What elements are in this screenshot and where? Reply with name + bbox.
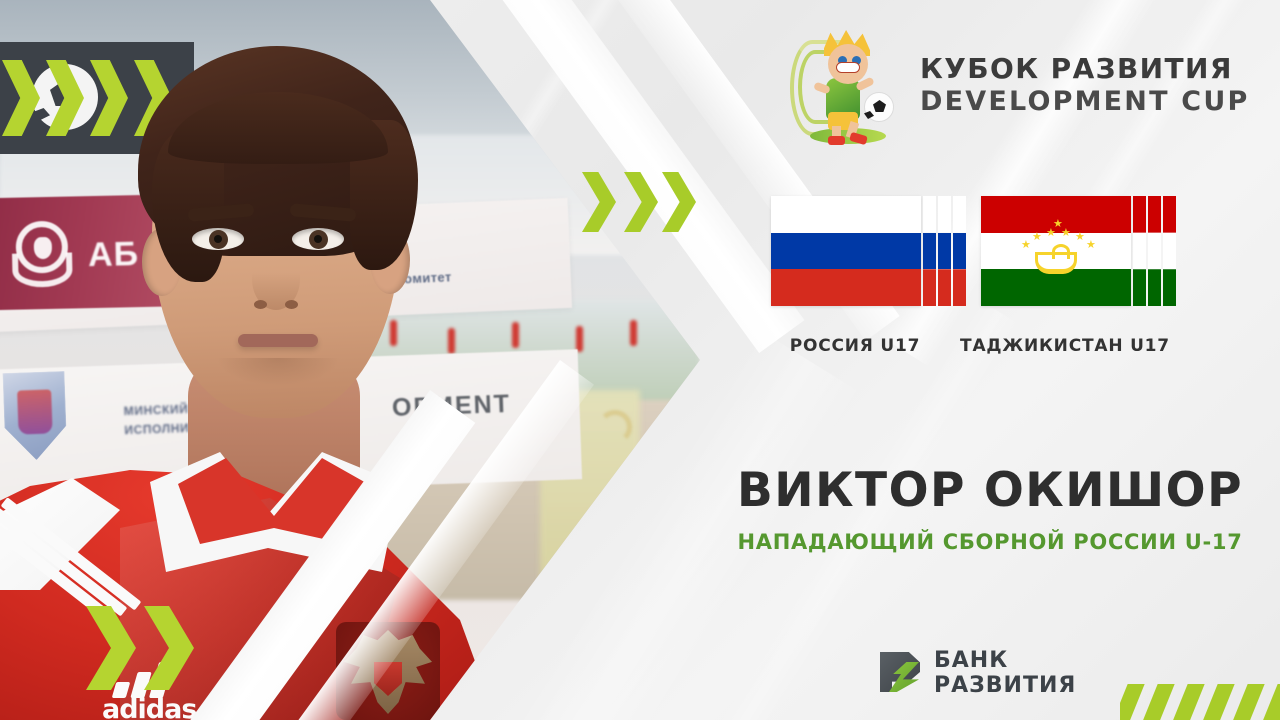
- flag-slat: [1133, 196, 1146, 306]
- info-panel: КУБОК РАЗВИТИЯ DEVELOPMENT CUP: [700, 0, 1280, 720]
- tournament-title-en: DEVELOPMENT CUP: [920, 86, 1249, 118]
- decor-chevrons-jersey: [86, 606, 216, 690]
- flag-slat: [1163, 196, 1176, 306]
- flag-slat: [923, 196, 936, 306]
- nose: [252, 248, 300, 310]
- sponsor-line-2: РАЗВИТИЯ: [934, 673, 1076, 698]
- flag-slat: [1148, 196, 1161, 306]
- player-role: НАПАДАЮЩИЙ СБОРНОЙ РОССИИ U-17: [700, 530, 1280, 554]
- russian-double-headed-eagle-icon: [336, 622, 440, 720]
- player-name: ВИКТОР ОКИШОР: [700, 462, 1280, 520]
- sponsor-text: БАНК РАЗВИТИЯ: [934, 648, 1076, 698]
- match-teams: РОССИЯ U17: [700, 196, 1280, 371]
- flag-body: ★ ★ ★ ★ ★ ★ ★: [981, 196, 1131, 306]
- triple-chevron-right-icon: [582, 172, 712, 232]
- team-name-away: ТАДЖИКИСТАН U17: [950, 336, 1180, 356]
- flag-body: [771, 196, 921, 306]
- tournament-logo-text: КУБОК РАЗВИТИЯ DEVELOPMENT CUP: [920, 52, 1249, 118]
- tournament-logo: КУБОК РАЗВИТИЯ DEVELOPMENT CUP: [790, 22, 1260, 146]
- eye-right: [292, 228, 344, 250]
- decor-corner-stripes: [1120, 684, 1280, 720]
- flag-russia-icon: [771, 196, 939, 308]
- sponsor-line-1: БАНК: [934, 648, 1076, 673]
- mouth: [238, 334, 318, 347]
- broadcast-graphic-stage: кий городской олнительный комитет АБ МИН…: [0, 0, 1280, 720]
- sponsor-logo: БАНК РАЗВИТИЯ: [880, 644, 1120, 700]
- team-away: ★ ★ ★ ★ ★ ★ ★ ТАДЖИКИСТАН U17: [950, 196, 1180, 356]
- player-photo: кий городской олнительный комитет АБ МИН…: [0, 0, 700, 720]
- eye-left: [192, 228, 244, 250]
- adidas-wordmark: adidas: [102, 694, 196, 720]
- bank-razvitiya-logo-icon: [880, 652, 920, 692]
- player-identity: ВИКТОР ОКИШОР НАПАДАЮЩИЙ СБОРНОЙ РОССИИ …: [700, 462, 1280, 554]
- tournament-title-ru: КУБОК РАЗВИТИЯ: [920, 52, 1249, 86]
- crown-and-seven-stars-icon: ★ ★ ★ ★ ★ ★ ★: [1017, 228, 1095, 274]
- flag-tajikistan-icon: ★ ★ ★ ★ ★ ★ ★: [981, 196, 1149, 308]
- team-name-home: РОССИЯ U17: [740, 336, 970, 356]
- team-home: РОССИЯ U17: [740, 196, 970, 356]
- mascot-footballer-icon: [790, 22, 900, 146]
- chin-shadow: [216, 358, 340, 386]
